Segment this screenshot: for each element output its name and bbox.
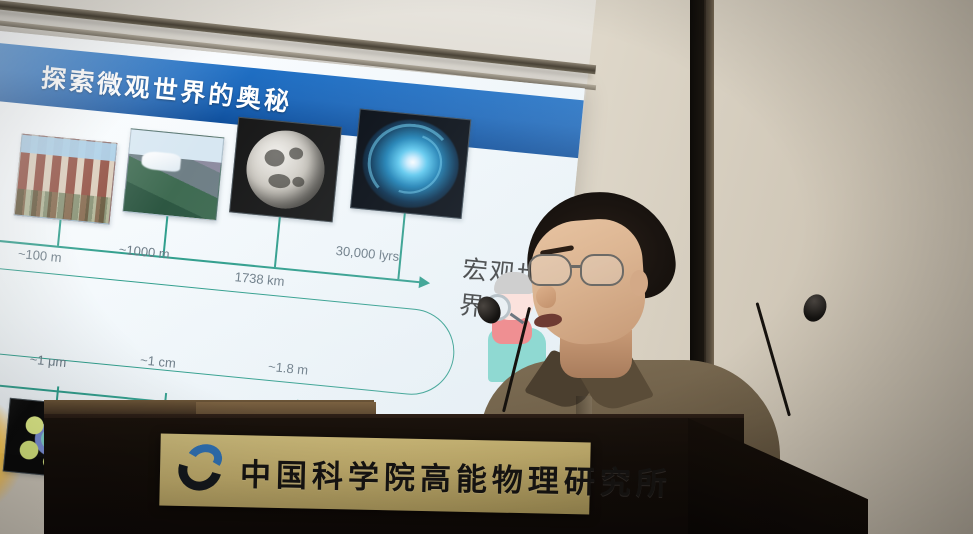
slide-image-mountain: [123, 128, 225, 221]
moon-disc: [243, 127, 328, 212]
lecture-scene: 探索微观世界的奥秘 ~100 m ~1000 m 1738 km: [0, 0, 973, 534]
podium-plaque: 中国科学院高能物理研究所: [159, 434, 590, 515]
ihep-swirl-logo-icon: [173, 442, 230, 499]
lens-left: [528, 254, 572, 286]
lens-right: [580, 254, 624, 286]
eyeglasses-icon: [528, 254, 634, 288]
speaker-nose: [536, 286, 556, 308]
podium-microphone-right[interactable]: [784, 296, 830, 416]
mic-capsule-right: [800, 291, 831, 325]
plaque-text: 中国科学院高能物理研究所: [240, 449, 673, 503]
slide-image-moon: [229, 117, 342, 223]
slide-image-building: [14, 134, 118, 225]
macro-arrow-head: [419, 276, 431, 289]
podium-microphone-left[interactable]: [472, 300, 512, 412]
speaker-person: [488, 192, 768, 452]
slide-image-galaxy: [350, 109, 471, 219]
